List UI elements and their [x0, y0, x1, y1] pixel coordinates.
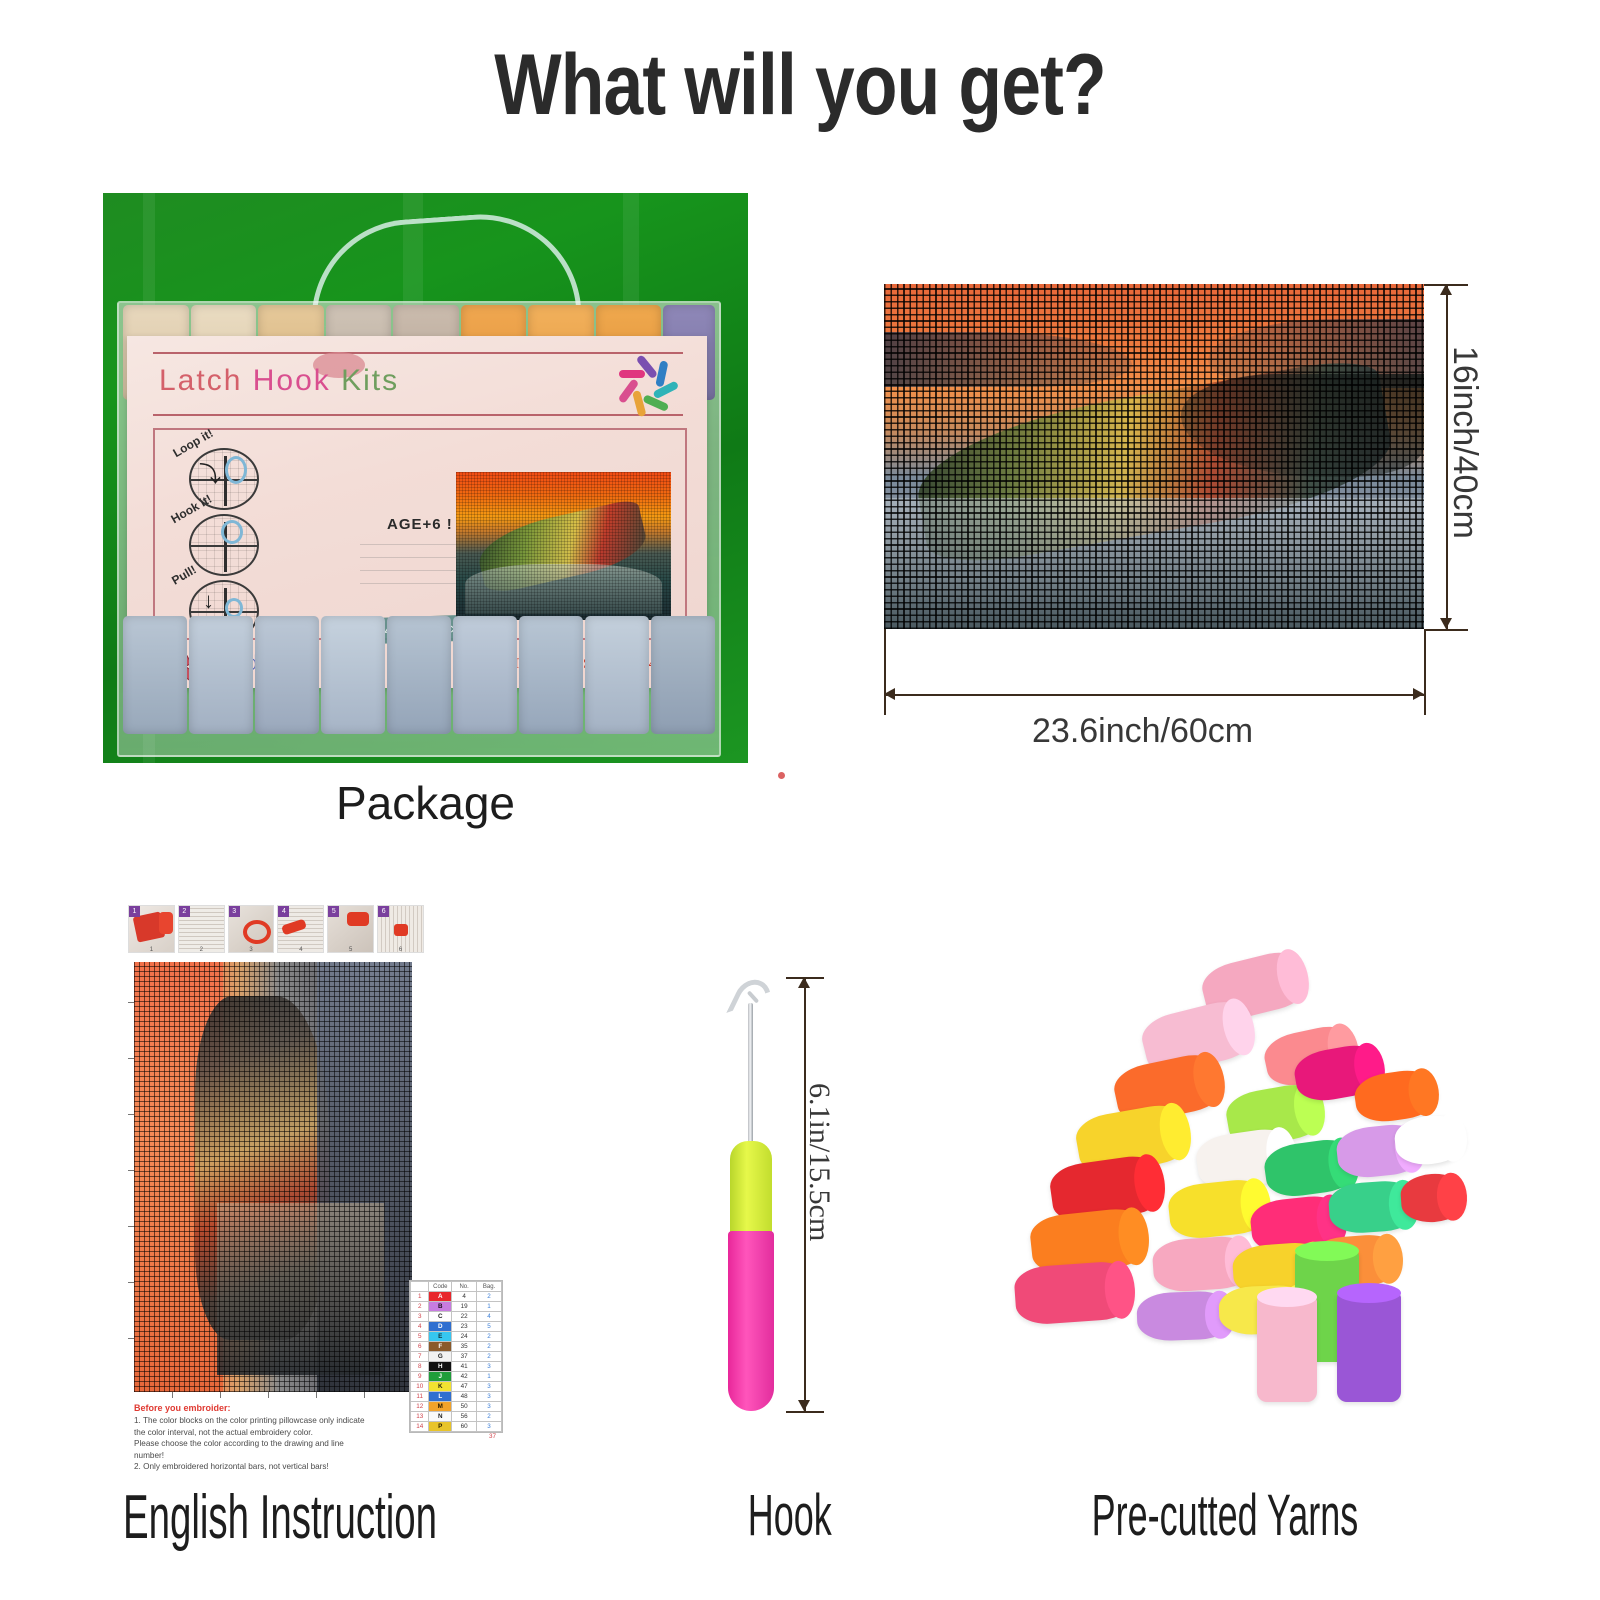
step-photo: 1 1	[128, 905, 175, 953]
step-badge: 5	[328, 906, 339, 917]
instruction-box: Loop it! ⤵ Hook it! Pull! ↓	[153, 428, 687, 640]
mesh-canvas-image	[884, 284, 1424, 629]
legend-bag: 3	[477, 1362, 502, 1372]
legend-index: 14	[411, 1422, 429, 1432]
infographic-page: What will you get? Latch Ho	[0, 0, 1600, 1600]
chart-grid-overlay	[134, 962, 412, 1392]
legend-number: 47	[452, 1382, 477, 1392]
note-line: 2. Only embroidered horizontal bars, not…	[134, 1461, 374, 1473]
note-heading: Before you embroider:	[134, 1403, 374, 1413]
canvas-height-label: 16inch/40cm	[1445, 346, 1484, 539]
legend-row: 13N562	[411, 1412, 502, 1422]
legend-bag: 2	[477, 1342, 502, 1352]
page-title: What will you get?	[136, 36, 1464, 135]
product-preview-image	[456, 472, 671, 620]
legend-color-swatch: L	[429, 1392, 452, 1402]
hook-handle-upper	[730, 1141, 772, 1236]
legend-color-swatch: P	[429, 1422, 452, 1432]
step-badge: 3	[229, 906, 240, 917]
pattern-chart	[134, 962, 412, 1392]
yarn-bundle-upright	[1257, 1296, 1317, 1402]
legend-number: 23	[452, 1322, 477, 1332]
legend-header-index	[411, 1282, 429, 1292]
brand-title: Latch Hook Kits	[159, 364, 399, 398]
step-badge: 2	[179, 906, 190, 917]
legend-row: 11L483	[411, 1392, 502, 1402]
step-photo: 3 3	[228, 905, 275, 953]
step-number: 6	[378, 947, 423, 953]
legend-row: 4D235	[411, 1322, 502, 1332]
mesh-canvas: 16inch/40cm 23.6inch/60cm	[884, 284, 1424, 629]
canvas-width-label: 23.6inch/60cm	[1032, 712, 1253, 751]
latch-hook-tool: 6.1in/15.5cm	[700, 965, 880, 1425]
legend-bag: 2	[477, 1332, 502, 1342]
legend-color-swatch: H	[429, 1362, 452, 1372]
note-line: the color interval, not the actual embro…	[134, 1427, 374, 1439]
legend-index: 7	[411, 1352, 429, 1362]
hook-length-label: 6.1in/15.5cm	[802, 1083, 836, 1241]
legend-row: 12M503	[411, 1402, 502, 1412]
age-recommendation: AGE+6 !	[387, 516, 453, 533]
caption-yarns-text: Pre-cutted Yarns	[1092, 1482, 1359, 1549]
step-number: 4	[278, 947, 323, 953]
yarn-cylinder	[1393, 1112, 1468, 1167]
yarn-bundle-upright	[1337, 1292, 1401, 1402]
legend-index: 12	[411, 1402, 429, 1412]
legend-index: 13	[411, 1412, 429, 1422]
note-line: 1. The color blocks on the color printin…	[134, 1415, 374, 1427]
chart-ruler-left	[126, 962, 134, 1392]
hook-dim-arrow-up	[798, 977, 810, 988]
legend-number: 19	[452, 1302, 477, 1312]
brand-word-kits: Kits	[341, 364, 399, 397]
legend-header-code: Code	[429, 1282, 452, 1292]
dim-line-horizontal	[884, 694, 1424, 696]
legend-color-swatch: C	[429, 1312, 452, 1322]
legend-color-swatch: A	[429, 1292, 452, 1302]
legend-bag: 2	[477, 1412, 502, 1422]
legend-number: 42	[452, 1372, 477, 1382]
step-badge: 6	[378, 906, 389, 917]
pre-cutted-yarns-pile	[965, 920, 1465, 1420]
step-number: 2	[179, 947, 224, 953]
legend-bag: 3	[477, 1402, 502, 1412]
legend-bag: 2	[477, 1292, 502, 1302]
legend-index: 2	[411, 1302, 429, 1312]
legend-header-bag: Bag.	[477, 1282, 502, 1292]
legend-row: 2B191	[411, 1302, 502, 1312]
hook-handle-lower	[728, 1231, 774, 1411]
red-speck	[778, 772, 785, 779]
legend-row: 14P603	[411, 1422, 502, 1432]
brand-word-hook: Hook	[253, 364, 331, 397]
chart-ruler-bottom	[134, 1392, 412, 1400]
dim-arrow-left	[884, 688, 895, 700]
step-photo: 4 4	[277, 905, 324, 953]
legend-number: 24	[452, 1332, 477, 1342]
yarn-bundles-bottom-row	[123, 616, 715, 734]
legend-bag: 3	[477, 1422, 502, 1432]
legend-color-swatch: J	[429, 1372, 452, 1382]
legend-color-swatch: M	[429, 1402, 452, 1412]
legend-header-row: Code No. Bag.	[411, 1282, 502, 1292]
legend-color-swatch: D	[429, 1322, 452, 1332]
legend-index: 11	[411, 1392, 429, 1402]
legend-number: 22	[452, 1312, 477, 1322]
legend-number: 41	[452, 1362, 477, 1372]
legend-bag: 1	[477, 1372, 502, 1382]
legend-color-swatch: N	[429, 1412, 452, 1422]
yarn-cylinder	[1013, 1260, 1135, 1326]
hook-dim-arrow-down	[798, 1400, 810, 1411]
caption-package: Package	[103, 776, 748, 830]
legend-index: 5	[411, 1332, 429, 1342]
color-code-legend: Code No. Bag. 1A422B1913C2244D2355E2426F…	[409, 1280, 503, 1433]
dim-arrow-down	[1440, 618, 1452, 629]
dim-arrow-right	[1413, 688, 1424, 700]
hook-dim-tick-bottom	[786, 1411, 824, 1413]
legend-row: 7G372	[411, 1352, 502, 1362]
package-photo: Latch Hook Kits Loop it!	[103, 193, 748, 763]
legend-header-no: No.	[452, 1282, 477, 1292]
yarn-cylinder	[1399, 1172, 1466, 1224]
mesh-grid-overlay	[884, 284, 1424, 629]
note-line: Please choose the color according to the…	[134, 1438, 374, 1461]
english-instruction-sheet: 1 1 2 2 3 3 4 4 5 5	[126, 905, 421, 1450]
caption-yarns: Pre-cutted Yarns	[905, 1482, 1545, 1549]
legend-color-swatch: B	[429, 1302, 452, 1312]
legend-index: 8	[411, 1362, 429, 1372]
legend-table: Code No. Bag. 1A422B1913C2244D2355E2426F…	[410, 1281, 502, 1432]
legend-bag: 3	[477, 1392, 502, 1402]
dim-tick-bottom	[1424, 629, 1468, 631]
legend-number: 56	[452, 1412, 477, 1422]
dim-tick-right	[1424, 629, 1426, 715]
step-photo: 5 5	[327, 905, 374, 953]
legend-bag: 5	[477, 1322, 502, 1332]
step-label-pull: Pull!	[169, 562, 199, 587]
legend-row: 3C224	[411, 1312, 502, 1322]
brand-row: Latch Hook Kits	[153, 360, 683, 418]
step-diagram-hook	[189, 514, 259, 576]
step-photo-strip: 1 1 2 2 3 3 4 4 5 5	[128, 905, 424, 957]
pinwheel-logo-icon	[621, 360, 679, 412]
legend-index: 10	[411, 1382, 429, 1392]
legend-color-swatch: F	[429, 1342, 452, 1352]
legend-number: 60	[452, 1422, 477, 1432]
legend-number: 4	[452, 1292, 477, 1302]
legend-number: 35	[452, 1342, 477, 1352]
step-photo: 6 6	[377, 905, 424, 953]
legend-bag: 1	[477, 1302, 502, 1312]
legend-color-swatch: E	[429, 1332, 452, 1342]
legend-index: 9	[411, 1372, 429, 1382]
legend-row: 1A42	[411, 1292, 502, 1302]
legend-index: 4	[411, 1322, 429, 1332]
dim-arrow-up	[1440, 284, 1452, 295]
legend-color-swatch: G	[429, 1352, 452, 1362]
legend-row: 9J421	[411, 1372, 502, 1382]
caption-hook-text: Hook	[748, 1482, 832, 1549]
hook-shaft	[748, 1003, 753, 1148]
legend-bag: 4	[477, 1312, 502, 1322]
caption-instruction: English Instruction	[32, 1482, 528, 1553]
legend-bag: 3	[477, 1382, 502, 1392]
legend-number: 50	[452, 1402, 477, 1412]
step-number: 5	[328, 947, 373, 953]
legend-index: 3	[411, 1312, 429, 1322]
legend-color-swatch: K	[429, 1382, 452, 1392]
legend-row: 8H413	[411, 1362, 502, 1372]
step-number: 1	[129, 947, 174, 953]
before-you-embroider-note: Before you embroider: 1. The color block…	[134, 1403, 374, 1473]
legend-row: 6F352	[411, 1342, 502, 1352]
legend-number: 48	[452, 1392, 477, 1402]
dim-tick-left	[884, 629, 886, 715]
step-badge: 4	[278, 906, 289, 917]
step-photo: 2 2	[178, 905, 225, 953]
legend-index: 6	[411, 1342, 429, 1352]
legend-row: 5E242	[411, 1332, 502, 1342]
brand-word-latch: Latch	[159, 364, 242, 397]
legend-number: 37	[452, 1352, 477, 1362]
caption-hook: Hook	[640, 1482, 940, 1549]
step-number: 3	[229, 947, 274, 953]
legend-row: 10K473	[411, 1382, 502, 1392]
legend-bag: 2	[477, 1352, 502, 1362]
legend-body: 1A422B1913C2244D2355E2426F3527G3728H4139…	[411, 1292, 502, 1432]
step-badge: 1	[129, 906, 140, 917]
legend-total: 37	[489, 1433, 496, 1440]
legend-index: 1	[411, 1292, 429, 1302]
